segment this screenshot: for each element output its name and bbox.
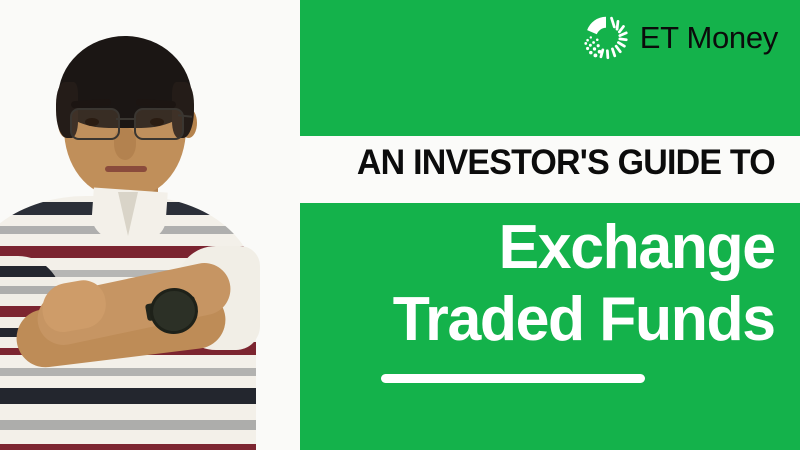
brand-logo[interactable]: ET Money <box>583 14 778 60</box>
left-eye <box>85 118 99 126</box>
headline: Exchange Traded Funds <box>385 212 775 356</box>
video-thumbnail: ET Money AN INVESTOR'S GUIDE TO Exchange… <box>0 0 800 450</box>
mouth <box>105 166 147 172</box>
headline-line-1: Exchange <box>393 212 775 284</box>
headline-underline <box>381 374 645 383</box>
brand-name: ET Money <box>640 22 778 53</box>
right-eye <box>150 118 164 126</box>
et-money-sunburst-logo-icon <box>583 14 629 60</box>
kicker-text: AN INVESTOR'S GUIDE TO <box>357 144 775 182</box>
headline-line-2: Traded Funds <box>393 284 775 356</box>
eyeglasses <box>62 108 190 138</box>
presenter-photo <box>0 0 300 450</box>
